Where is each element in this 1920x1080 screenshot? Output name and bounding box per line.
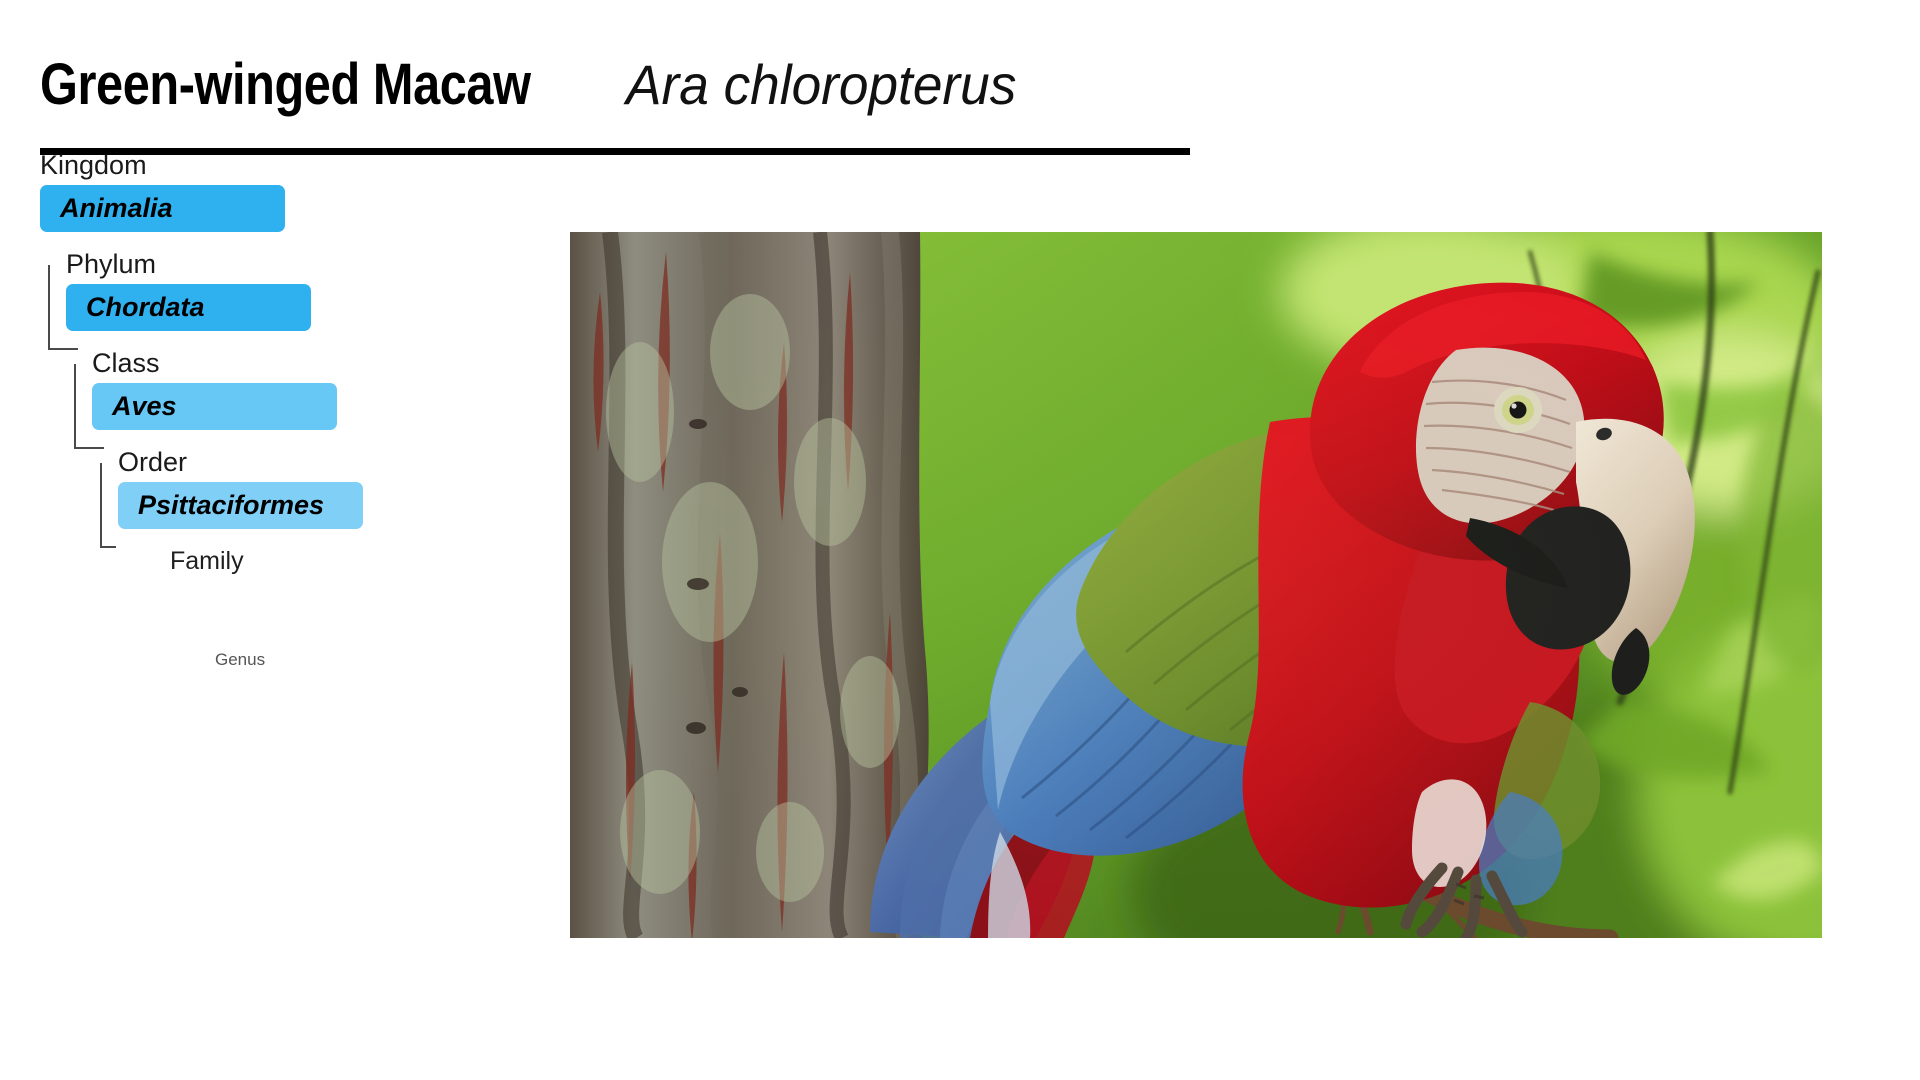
rank-value-class: Aves [112, 391, 177, 422]
rank-box-phylum[interactable]: Chordata [66, 284, 311, 331]
rank-label-kingdom: Kingdom [40, 150, 147, 181]
title-line: Green-winged Macaw Ara chloropterus [40, 56, 1260, 114]
rank-value-kingdom: Animalia [60, 193, 173, 224]
rank-label-phylum: Phylum [66, 249, 156, 280]
rank-box-kingdom[interactable]: Animalia [40, 185, 285, 232]
rank-label-class: Class [92, 348, 160, 379]
rank-label-family: Family [170, 547, 244, 576]
rank-label-genus: Genus [215, 650, 265, 670]
slide-canvas: Green-winged Macaw Ara chloropterus King… [0, 0, 1920, 1080]
species-photo [570, 232, 1822, 938]
page-title: Green-winged Macaw Ara chloropterus [40, 56, 1260, 114]
rank-value-order: Psittaciformes [138, 490, 324, 521]
scientific-name-text: Ara chloropterus [626, 57, 1016, 113]
rank-box-class[interactable]: Aves [92, 383, 337, 430]
macaw-photo-illustration [570, 232, 1822, 938]
rank-value-phylum: Chordata [86, 292, 205, 323]
taxonomy-tree: Kingdom Animalia Phylum Chordata Class A… [0, 150, 520, 890]
common-name-text: Green-winged Macaw [40, 56, 531, 114]
rank-label-order: Order [118, 447, 187, 478]
rank-box-order[interactable]: Psittaciformes [118, 482, 363, 529]
